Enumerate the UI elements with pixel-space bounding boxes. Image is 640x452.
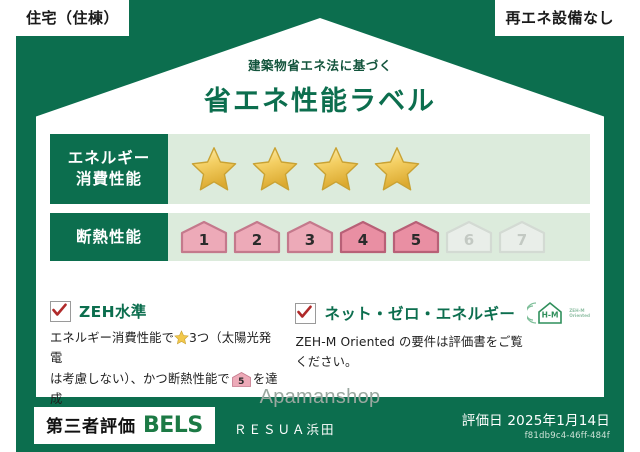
note-net-zero-energy-title: ネット・ゼロ・エネルギー [324, 302, 515, 324]
insulation-grade-scale: 1234567 [180, 220, 546, 254]
note-right-text-2: ください。 [295, 355, 357, 369]
row-insulation-body: 1234567 [168, 213, 590, 261]
row-energy-label-line1: エネルギー [68, 148, 151, 169]
insulation-grade-number: 7 [498, 231, 546, 249]
insulation-grade-7: 7 [498, 220, 546, 254]
row-insulation-label: 断熱性能 [50, 213, 168, 261]
zeh-m-caption-line1: ZEH-M [569, 308, 584, 313]
insulation-grade-number: 2 [233, 231, 281, 249]
note-left-text-3: は考慮しない）、かつ断熱性能で [50, 372, 230, 386]
row-energy-label: エネルギー 消費性能 [50, 134, 168, 204]
insulation-grade-1: 1 [180, 220, 228, 254]
inline-star-icon [174, 330, 189, 345]
note-left-text-1: エネルギー消費性能で [50, 331, 174, 345]
svg-text:H-M: H-M [542, 311, 559, 320]
inline-house-badge-number: 5 [232, 375, 251, 390]
insulation-grade-number: 4 [339, 231, 387, 249]
insulation-grade-3: 3 [286, 220, 334, 254]
insulation-grade-4: 4 [339, 220, 387, 254]
page-edge-left [0, 0, 16, 452]
zeh-m-caption-line2: Oriented [569, 313, 590, 318]
note-net-zero-energy: ネット・ゼロ・エネルギー H-M ZEH-M Oriented [295, 300, 590, 409]
row-insulation-performance: 断熱性能 1234567 [50, 213, 590, 261]
footer-bar: 第三者評価 BELS ＲＥＳＵＡ浜田 評価日 2025年1月14日 f81db9… [16, 397, 624, 452]
check-icon [295, 303, 316, 324]
page-edge-right [624, 0, 640, 452]
star-icon [190, 145, 238, 193]
insulation-grade-6: 6 [445, 220, 493, 254]
note-zeh-standard: ZEH水準 エネルギー消費性能で3つ（太陽光発電 は考慮しない）、かつ断熱性能で… [50, 300, 279, 409]
bels-third-party-label: 第三者評価 [46, 412, 136, 437]
row-energy-consumption: エネルギー 消費性能 [50, 134, 590, 204]
insulation-grade-5: 5 [392, 220, 440, 254]
bels-badge: 第三者評価 BELS [34, 407, 215, 444]
star-icon [312, 145, 360, 193]
bels-logo-text: BELS [143, 413, 203, 438]
insulation-grade-number: 5 [392, 231, 440, 249]
note-net-zero-energy-body: ZEH-M Oriented の要件は評価書をご覧 ください。 [295, 332, 590, 373]
performance-rows: エネルギー 消費性能 断熱性能 1234567 [50, 134, 590, 270]
insulation-grade-number: 6 [445, 231, 493, 249]
evaluation-date: 評価日 2025年1月14日 [462, 409, 610, 429]
tag-building-type: 住宅（住棟） [16, 0, 129, 36]
evaluation-id: f81db9c4-46ff-484f [462, 431, 610, 441]
star-icon [373, 145, 421, 193]
title-block: 建築物省エネ法に基づく 省エネ性能ラベル [0, 55, 640, 118]
note-right-text-1: ZEH-M Oriented の要件は評価書をご覧 [295, 335, 522, 349]
star-icon [251, 145, 299, 193]
builder-name: ＲＥＳＵＡ浜田 [234, 419, 336, 438]
row-insulation-label-text: 断熱性能 [76, 227, 142, 248]
inline-house-badge-icon: 5 [232, 372, 251, 387]
zeh-m-logo-caption: ZEH-M Oriented [569, 308, 590, 319]
tag-renewable-equipment: 再エネ設備なし [495, 0, 624, 36]
notes-section: ZEH水準 エネルギー消費性能で3つ（太陽光発電 は考慮しない）、かつ断熱性能で… [50, 300, 590, 409]
label-subtitle: 建築物省エネ法に基づく [0, 55, 640, 74]
insulation-grade-number: 1 [180, 231, 228, 249]
insulation-grade-2: 2 [233, 220, 281, 254]
zeh-m-logo-icon: H-M ZEH-M Oriented [527, 300, 590, 326]
check-icon [50, 301, 71, 322]
page-title: 省エネ性能ラベル [0, 79, 640, 118]
energy-performance-label: 住宅（住棟） 再エネ設備なし 建築物省エネ法に基づく 省エネ性能ラベル エネルギ… [0, 0, 640, 452]
insulation-grade-number: 3 [286, 231, 334, 249]
note-zeh-standard-title: ZEH水準 [79, 300, 147, 322]
note-zeh-standard-head: ZEH水準 [50, 300, 279, 322]
row-energy-body [168, 134, 590, 204]
footer-right: 評価日 2025年1月14日 f81db9c4-46ff-484f [462, 409, 610, 441]
star-rating [190, 145, 421, 193]
row-energy-label-line2: 消費性能 [76, 169, 142, 190]
note-net-zero-energy-head: ネット・ゼロ・エネルギー H-M ZEH-M Oriented [295, 300, 590, 326]
